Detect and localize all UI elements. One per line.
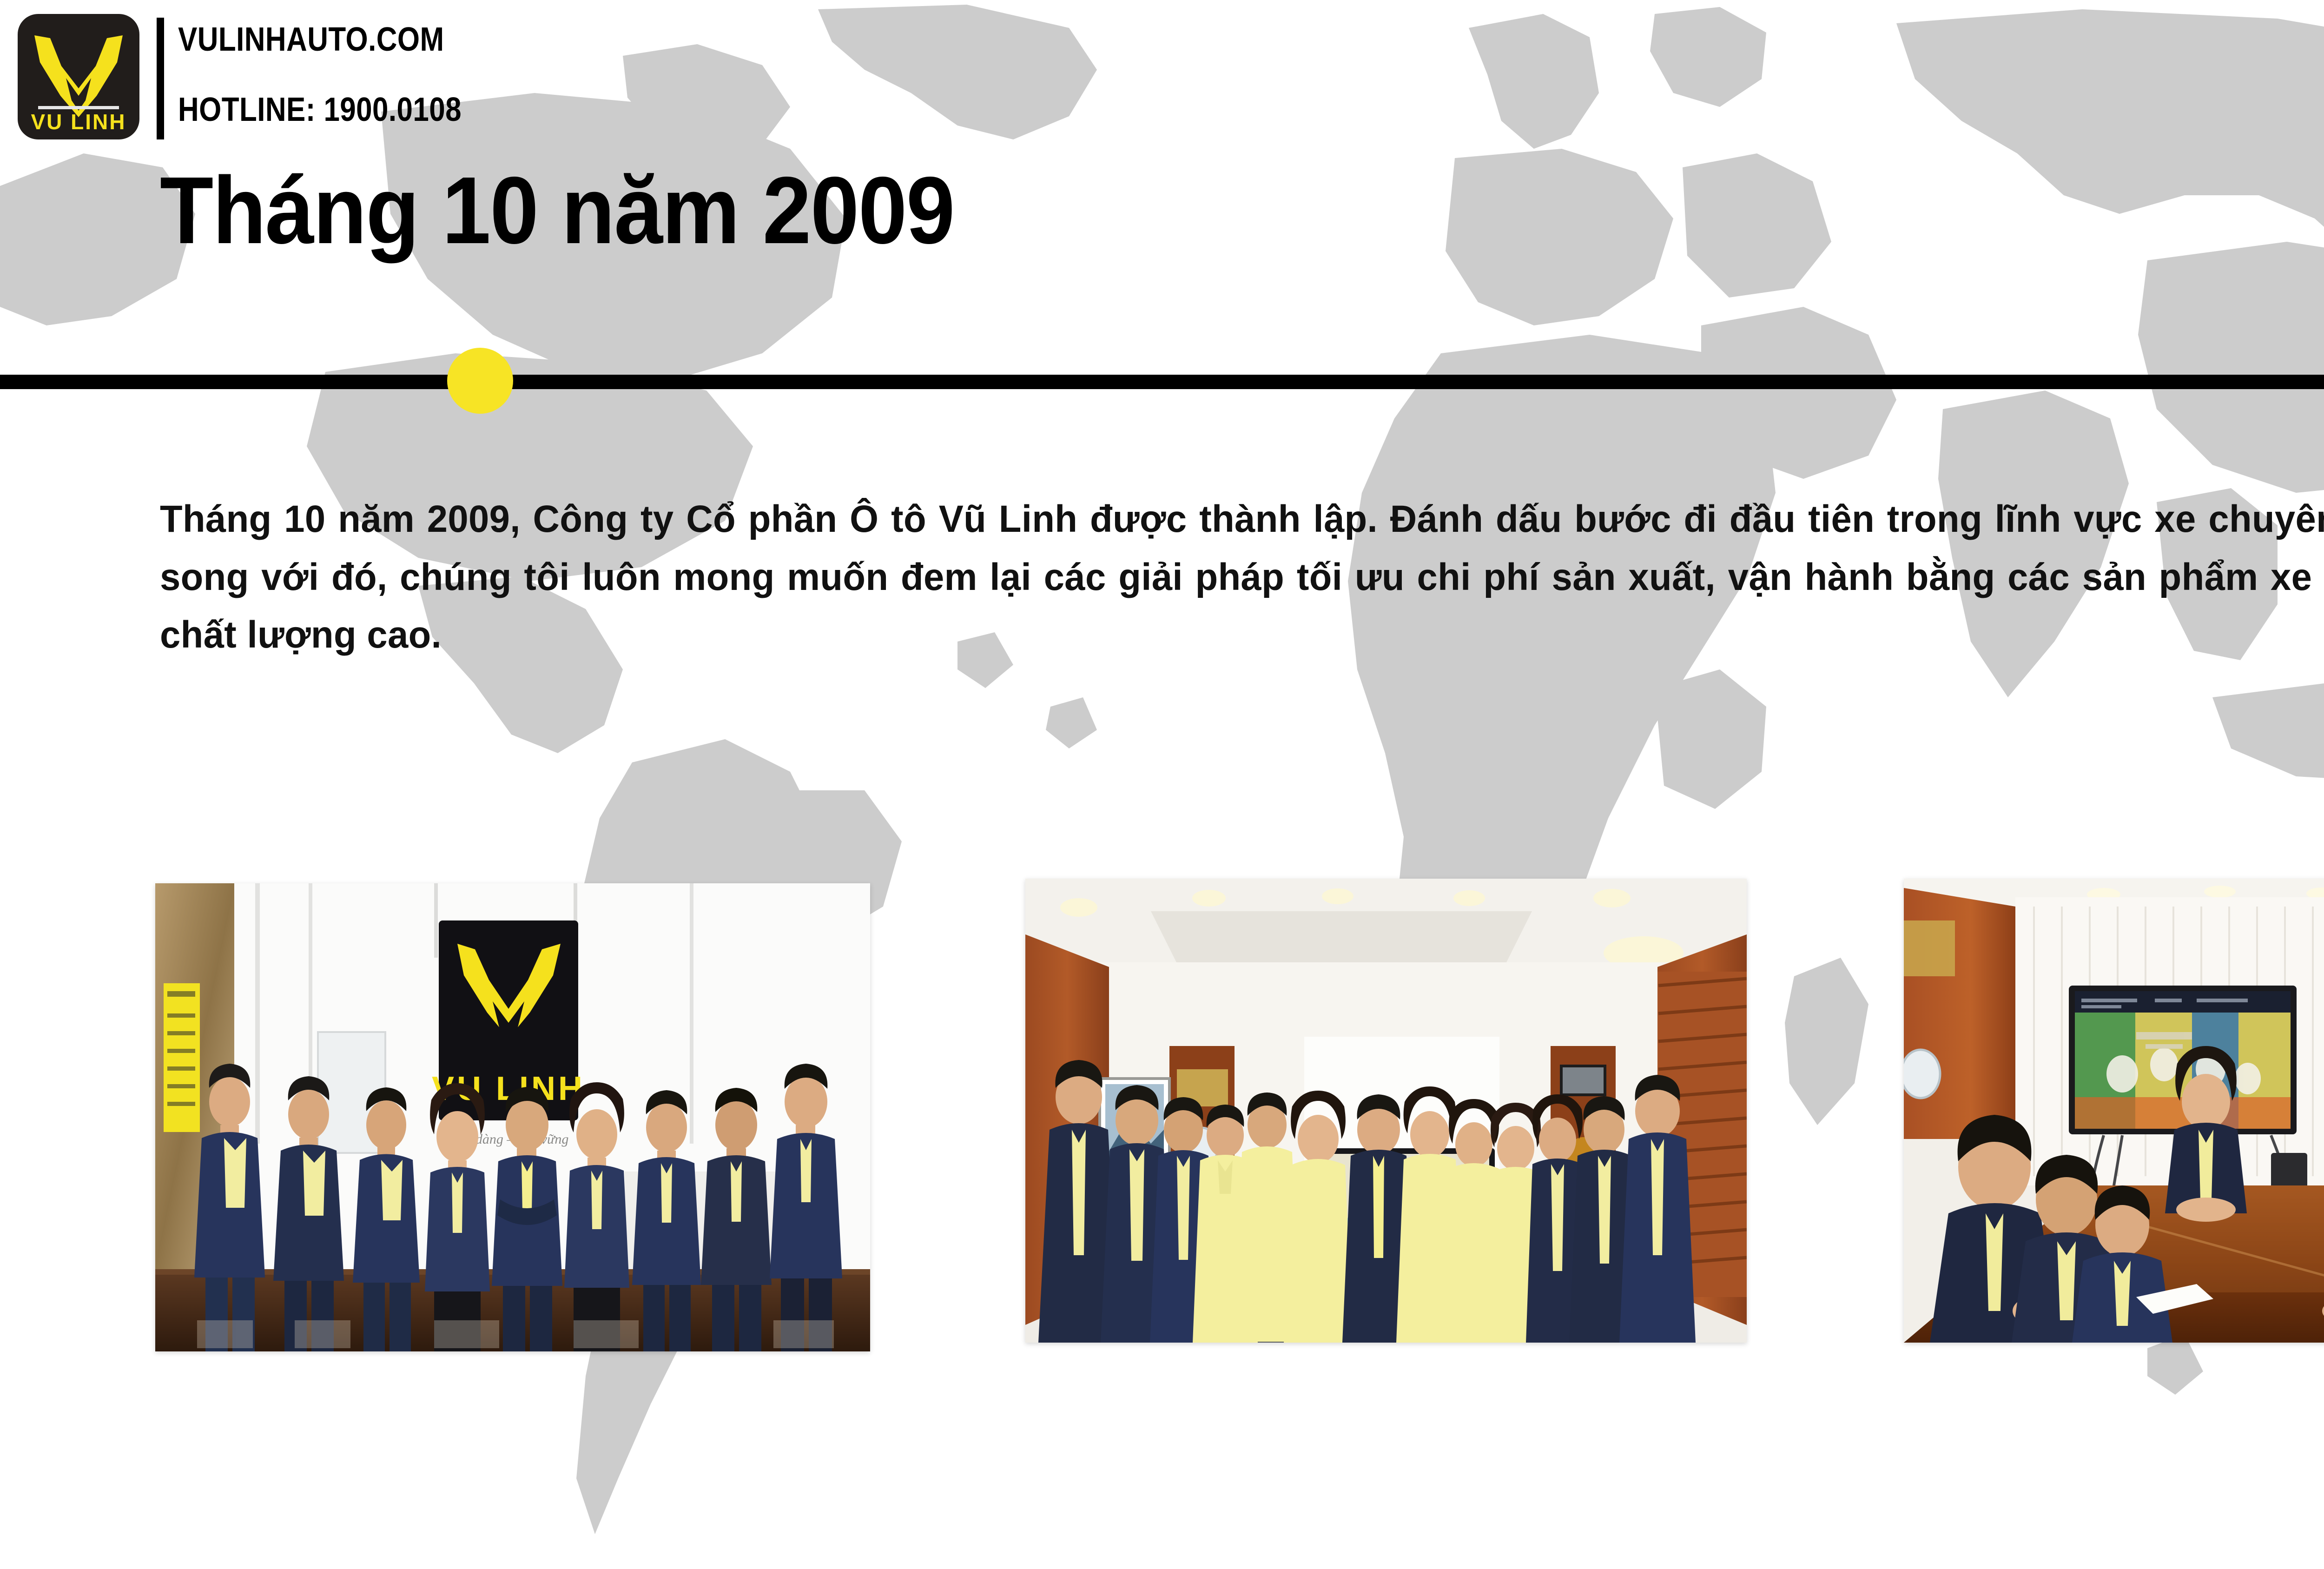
body-paragraph: Tháng 10 năm 2009, Công ty Cổ phần Ô tô … [160, 490, 2324, 664]
site-url-text: VULINHAUTO.COM [178, 20, 444, 59]
timeline-rule [0, 375, 2324, 389]
photo-team-lobby[interactable]: VU LINH n dễ dàng – bền vững [155, 883, 870, 1351]
timeline-dot-marker [447, 348, 513, 414]
photo-boardroom[interactable] [1904, 879, 2324, 1343]
hotline-text: HOTLINE: 1900.0108 [178, 91, 462, 129]
page-title: Tháng 10 năm 2009 [160, 163, 954, 258]
photo-gallery: VU LINH n dễ dàng – bền vững [0, 883, 2324, 1357]
vu-linh-chevron-icon [34, 35, 123, 117]
brand-logo[interactable]: VU LINH [18, 14, 139, 139]
svg-text:VU LINH: VU LINH [31, 110, 126, 134]
people-group [194, 1064, 842, 1351]
people-group [1038, 1060, 1696, 1343]
photo-meeting-room[interactable] [1025, 879, 1747, 1343]
header-divider-bar [157, 18, 164, 139]
